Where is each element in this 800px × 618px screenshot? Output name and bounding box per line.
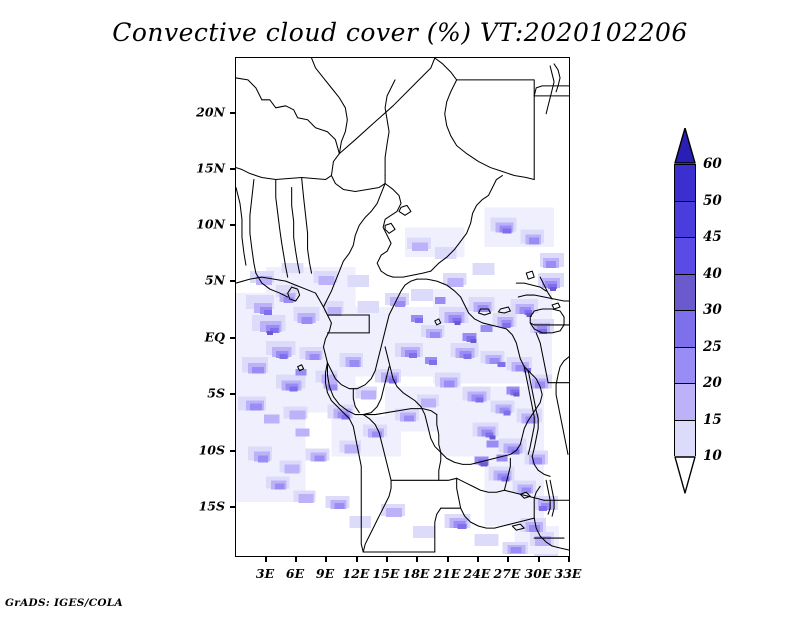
y-tick (230, 224, 235, 226)
y-axis-label-5s: 5S (170, 386, 225, 401)
y-axis-label-15n: 15N (170, 161, 225, 176)
colorbar-band-10-15 (675, 421, 695, 458)
y-tick (230, 112, 235, 114)
x-tick (416, 557, 418, 562)
colorbar-band-45-50 (675, 202, 695, 239)
x-tick (447, 557, 449, 562)
y-axis-label-20n: 20N (170, 105, 225, 120)
colorbar-tick-20: 20 (703, 375, 722, 391)
colorbar-bottom-arrow (674, 456, 696, 494)
colorbar-band-20-25 (675, 348, 695, 385)
x-tick (507, 557, 509, 562)
colorbar-tick-15: 15 (703, 412, 722, 428)
x-tick (265, 557, 267, 562)
colorbar-tick-60: 60 (703, 156, 722, 172)
y-axis-label-15s: 15S (170, 499, 225, 514)
colorbar-top-arrow (674, 128, 696, 164)
x-axis-label-33e: 33E (546, 566, 590, 581)
colorbar-tick-40: 40 (703, 266, 722, 282)
colorbar-band-30-40 (675, 275, 695, 312)
grads-plot-window: Convective cloud cover (%) VT:2020102206 (0, 0, 800, 618)
colorbar-bands (674, 164, 696, 456)
grads-attribution: GrADS: IGES/COLA (5, 597, 123, 609)
colorbar-tick-25: 25 (703, 339, 722, 355)
y-tick (230, 393, 235, 395)
x-tick (477, 557, 479, 562)
x-tick (568, 557, 570, 562)
colorbar-band-25-30 (675, 311, 695, 348)
colorbar-tick-10: 10 (703, 448, 722, 464)
x-tick (295, 557, 297, 562)
colorbar-tick-45: 45 (703, 229, 722, 245)
y-tick (230, 450, 235, 452)
colorbar-band-40-45 (675, 238, 695, 275)
colorbar[interactable]: 60 50 45 40 30 25 20 15 10 (670, 128, 790, 496)
map-panel[interactable] (235, 57, 570, 557)
y-tick (230, 280, 235, 282)
x-tick (356, 557, 358, 562)
colorbar-band-50-60 (675, 165, 695, 202)
y-axis-label-5n: 5N (170, 273, 225, 288)
page-title: Convective cloud cover (%) VT:2020102206 (0, 18, 800, 47)
y-tick (230, 337, 235, 339)
x-tick (325, 557, 327, 562)
x-tick (538, 557, 540, 562)
x-tick (386, 557, 388, 562)
y-tick (230, 506, 235, 508)
map-canvas (236, 58, 569, 556)
colorbar-band-15-20 (675, 384, 695, 421)
y-axis-label-10n: 10N (170, 217, 225, 232)
colorbar-tick-50: 50 (703, 193, 722, 209)
y-axis-label-10s: 10S (170, 443, 225, 458)
y-axis-label-eq: EQ (170, 330, 225, 345)
colorbar-tick-30: 30 (703, 302, 722, 318)
y-tick (230, 168, 235, 170)
